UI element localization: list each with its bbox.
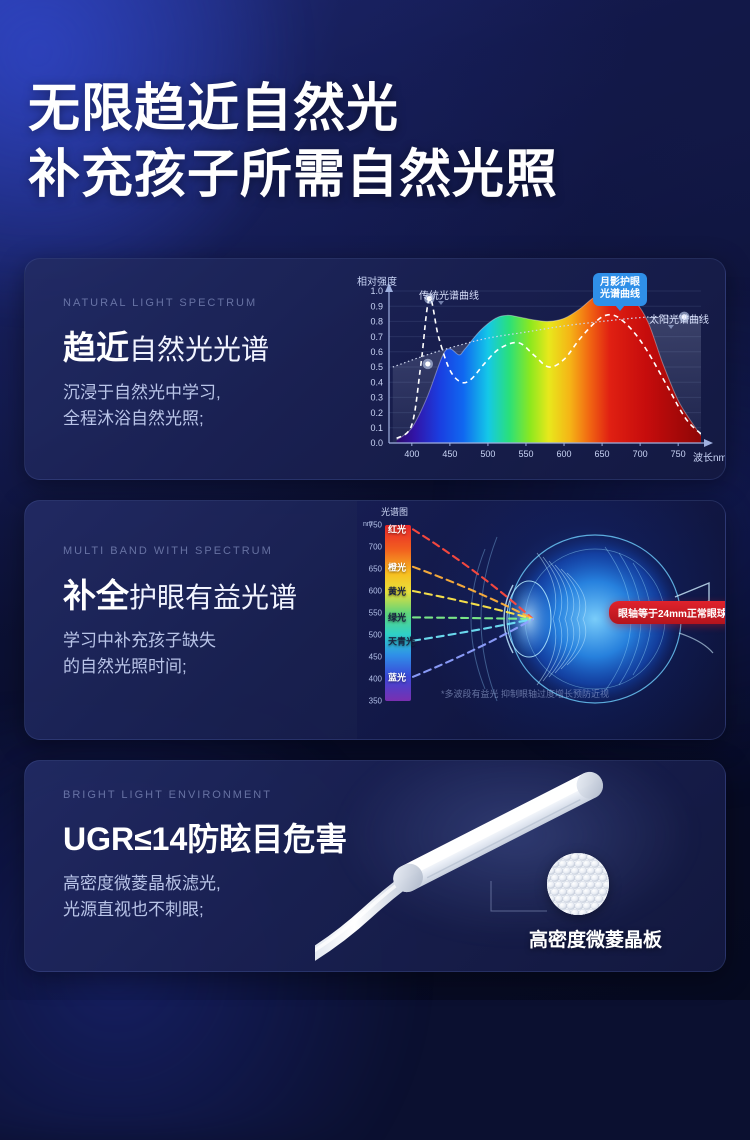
magnified-lens-texture (547, 853, 609, 915)
card3-desc-line-2: 光源直视也不刺眼; (63, 897, 347, 923)
card3-desc-line-1: 高密度微菱晶板滤光, (63, 871, 347, 897)
svg-text:0.7: 0.7 (370, 332, 383, 342)
card2-title-strong: 补全 (63, 577, 129, 614)
spectrum-scale-title: 光谱图 (381, 505, 408, 518)
card1-title: 趋近自然光光谱 (63, 331, 269, 366)
spectrum-tick: 550 (369, 609, 382, 618)
spectrum-band-label: 红光 (388, 523, 406, 536)
chart-badge-line-2: 光谱曲线 (600, 289, 640, 300)
eye-footnote: *多波段有益光 抑制眼轴过度增长预防近视 (441, 687, 609, 700)
spectrum-band-label: 天青光 (388, 634, 415, 647)
svg-text:0.5: 0.5 (370, 362, 383, 372)
spectrum-scale-ticks: 750700650600550500450400350 (357, 525, 385, 705)
eye-diagram: 光谱图 nm 750700650600550500450400350 红光橙光黄… (357, 501, 726, 740)
card2-text-block: MULTI BAND WITH SPECTRUM 补全护眼有益光谱 学习中补充孩… (63, 545, 297, 680)
card3-title: UGR≤14防眩目危害 (63, 823, 347, 857)
chart-legend-product-badge: 月影护眼 光谱曲线 (593, 273, 647, 306)
svg-text:500: 500 (480, 449, 495, 459)
spectrum-tick: 400 (369, 675, 382, 684)
svg-text:400: 400 (404, 449, 419, 459)
svg-text:700: 700 (633, 449, 648, 459)
lamp-svg (315, 761, 726, 972)
svg-text:0.3: 0.3 (370, 393, 383, 403)
card1-text-block: NATURAL LIGHT SPECTRUM 趋近自然光光谱 沉浸于自然光中学习… (63, 297, 269, 432)
chart-x-ticks: 400450500550600650700750 (404, 443, 685, 459)
spectrum-band-label: 黄光 (388, 585, 406, 598)
spectrum-tick: 600 (369, 587, 382, 596)
card2-desc-line-1: 学习中补充孩子缺失 (63, 628, 297, 654)
chart-y-axis-label: 相对强度 (357, 273, 397, 288)
spectrum-chart: 相对强度 波长nm 传统光谱曲线 太阳光谱曲线 月影护眼 光谱曲线 (357, 273, 723, 469)
svg-text:0.0: 0.0 (370, 438, 383, 448)
card1-desc-line-2: 全程沐浴自然光照; (63, 406, 269, 432)
card2-title: 补全护眼有益光谱 (63, 579, 297, 614)
card3-text-block: BRIGHT LIGHT ENVIRONMENT UGR≤14防眩目危害 高密度… (63, 789, 347, 923)
spectrum-tick: 700 (369, 543, 382, 552)
card1-title-light: 自然光光谱 (129, 334, 269, 365)
svg-text:750: 750 (671, 449, 686, 459)
card3-eyebrow: BRIGHT LIGHT ENVIRONMENT (63, 789, 347, 801)
chart-badge-line-1: 月影护眼 (600, 277, 640, 288)
headline-line-2: 补充孩子所需自然光照 (28, 142, 722, 208)
svg-text:0.2: 0.2 (370, 408, 383, 418)
spectrum-tick: 350 (369, 697, 382, 706)
lamp-illustration: 高密度微菱晶板 (315, 761, 726, 972)
card1-desc-line-1: 沉浸于自然光中学习, (63, 380, 269, 406)
spectrum-band-label: 蓝光 (388, 670, 406, 683)
lamp-caption: 高密度微菱晶板 (529, 925, 662, 952)
svg-text:0.1: 0.1 (370, 423, 383, 433)
svg-text:0.8: 0.8 (370, 317, 383, 327)
card1-title-strong: 趋近 (63, 329, 129, 366)
svg-text:0.4: 0.4 (370, 377, 383, 387)
spectrum-tick: 450 (369, 653, 382, 662)
spectrum-tick: 500 (369, 631, 382, 640)
svg-text:0.6: 0.6 (370, 347, 383, 357)
page-headline: 无限趋近自然光 补充孩子所需自然光照 (28, 76, 722, 208)
svg-text:550: 550 (518, 449, 533, 459)
card-bright-light-environment: BRIGHT LIGHT ENVIRONMENT UGR≤14防眩目危害 高密度… (24, 760, 726, 972)
spectrum-band-label: 橙光 (388, 560, 406, 573)
chart-x-axis-label: 波长nm (693, 449, 726, 464)
eye-axial-length-badge: 眼轴等于24mm正常眼球 (609, 601, 726, 624)
card-multi-band-spectrum: MULTI BAND WITH SPECTRUM 补全护眼有益光谱 学习中补充孩… (24, 500, 726, 740)
headline-line-1: 无限趋近自然光 (28, 76, 722, 142)
chart-legend-sun: 太阳光谱曲线 (649, 311, 709, 326)
spectrum-tick: 650 (369, 565, 382, 574)
card2-desc-line-2: 的自然光照时间; (63, 654, 297, 680)
spectrum-tick: 750 (369, 521, 382, 530)
chart-legend-traditional: 传统光谱曲线 (419, 287, 479, 302)
card3-title-ugr: UGR≤14防眩目危害 (63, 821, 347, 857)
svg-text:650: 650 (595, 449, 610, 459)
card-natural-light-spectrum: NATURAL LIGHT SPECTRUM 趋近自然光光谱 沉浸于自然光中学习… (24, 258, 726, 480)
lens-texture-svg (547, 853, 609, 915)
spectrum-band-label: 绿光 (388, 611, 406, 624)
card2-eyebrow: MULTI BAND WITH SPECTRUM (63, 545, 297, 557)
spectrum-chart-svg: 1.00.90.80.70.60.50.40.30.20.10.0 400450… (357, 273, 723, 469)
svg-text:450: 450 (442, 449, 457, 459)
svg-text:0.9: 0.9 (370, 301, 383, 311)
card1-eyebrow: NATURAL LIGHT SPECTRUM (63, 297, 269, 309)
chart-y-ticks: 1.00.90.80.70.60.50.40.30.20.10.0 (370, 286, 383, 448)
card2-title-light: 护眼有益光谱 (129, 582, 297, 613)
svg-text:600: 600 (557, 449, 572, 459)
